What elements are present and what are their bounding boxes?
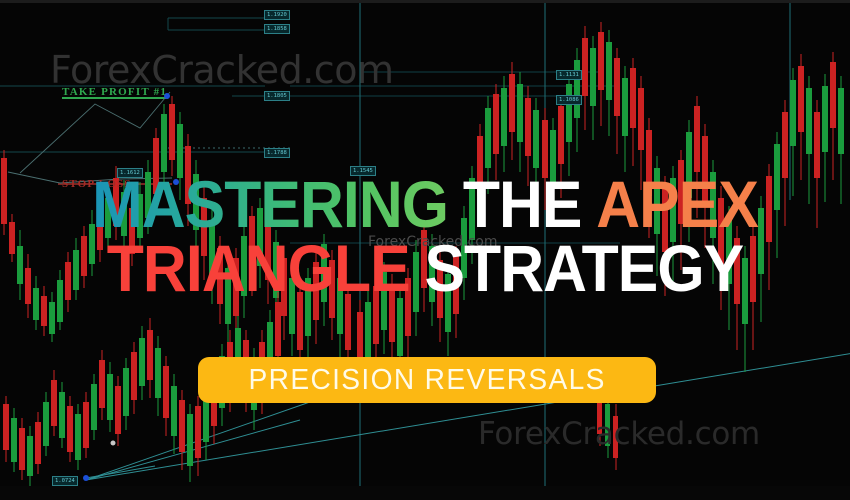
subtitle-badge-label: PRECISION REVERSALS <box>248 364 605 397</box>
subtitle-badge: PRECISION REVERSALS <box>198 357 656 403</box>
candlestick-chart-background <box>0 0 850 500</box>
top-edge-strip <box>0 0 850 3</box>
chart-svg <box>0 0 850 500</box>
bottom-axis-strip <box>0 486 850 500</box>
promo-graphic: 1.1920 1.1858 1.1805 1.1788 1.1612 1.154… <box>0 0 850 500</box>
